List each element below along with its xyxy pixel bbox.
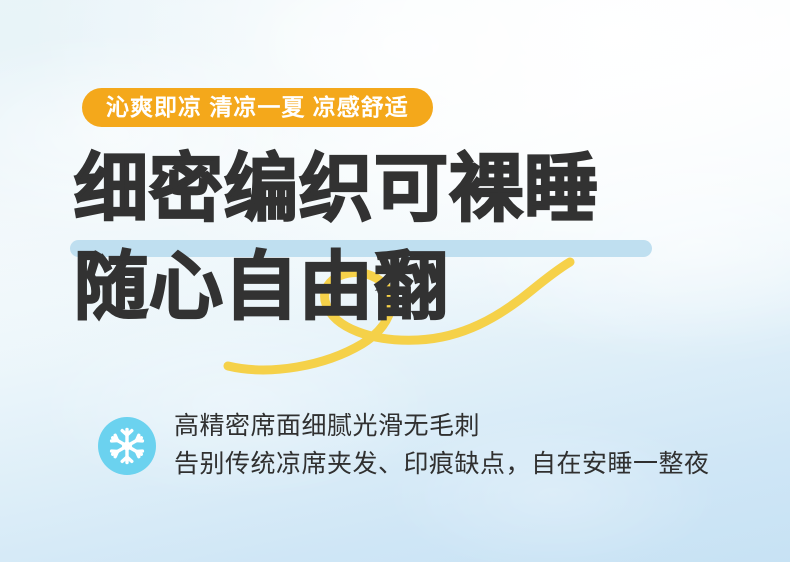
snowflake-icon	[107, 426, 147, 466]
headline-line-2-text: 随心自由翻	[74, 245, 449, 328]
headline-block: 细密编织可裸睡 随心自由翻	[74, 152, 734, 324]
headline-line-2: 随心自由翻	[74, 250, 734, 324]
eyebrow-pill: 沁爽即凉 清凉一夏 凉感舒适	[82, 88, 433, 127]
headline-line-1: 细密编织可裸睡	[74, 152, 734, 226]
feature-line-1: 高精密席面细腻光滑无毛刺	[174, 412, 710, 442]
eyebrow-pill-label: 沁爽即凉 清凉一夏 凉感舒适	[106, 96, 409, 119]
snowflake-badge	[98, 417, 156, 475]
feature-text-block: 高精密席面细腻光滑无毛刺 告别传统凉席夹发、印痕缺点，自在安睡一整夜	[174, 412, 710, 479]
feature-line-2: 告别传统凉席夹发、印痕缺点，自在安睡一整夜	[174, 450, 710, 480]
promo-banner: 沁爽即凉 清凉一夏 凉感舒适 细密编织可裸睡 随心自由翻	[0, 0, 790, 562]
feature-row: 高精密席面细腻光滑无毛刺 告别传统凉席夹发、印痕缺点，自在安睡一整夜	[98, 412, 710, 479]
headline-line-1-text: 细密编织可裸睡	[74, 147, 599, 230]
